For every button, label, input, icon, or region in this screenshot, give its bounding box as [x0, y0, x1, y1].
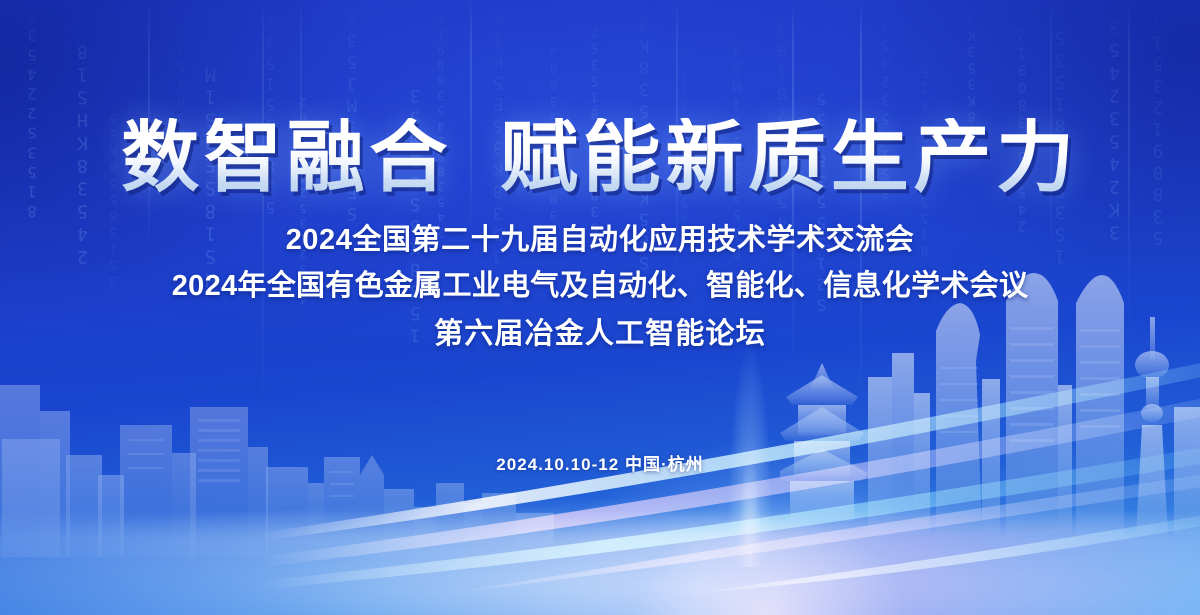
subtitle-line-1: 2024全国第二十九届自动化应用技术学术交流会 [0, 216, 1200, 258]
title-part-2: 赋能新质生产力 [500, 113, 1079, 201]
date-location-label: 2024.10.10-12 中国·杭州 [0, 450, 1200, 475]
title-part-1: 数智融合 [121, 113, 452, 201]
poster-main-title: 数智融合赋能新质生产力 [0, 118, 1200, 196]
conference-poster: 8153S22453B24538KHS1835138538K352453B453… [0, 0, 1200, 615]
subtitle-line-3: 第六届冶金人工智能论坛 [0, 310, 1200, 352]
subtitle-line-2: 2024年全国有色金属工业电气及自动化、智能化、信息化学术会议 [0, 262, 1200, 304]
